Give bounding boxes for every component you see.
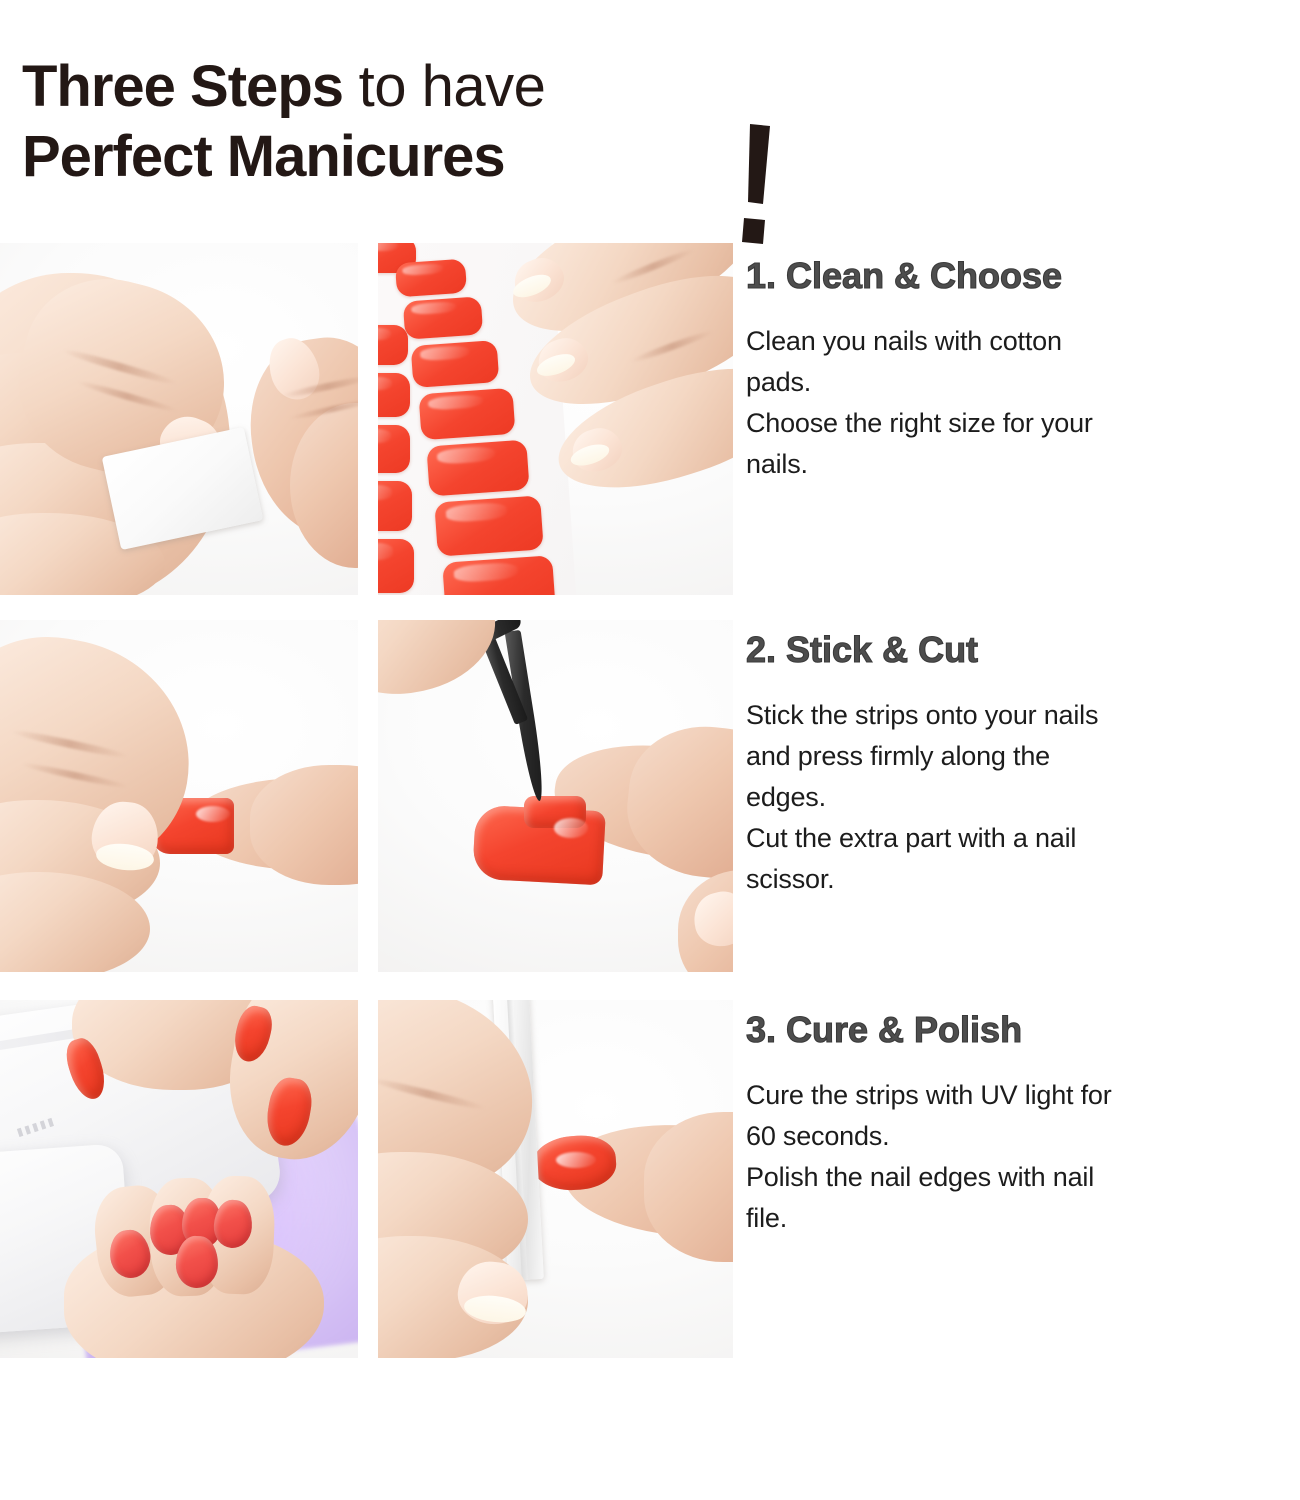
title-line1-light: to have bbox=[343, 54, 545, 119]
step-2: 2. Stick & Cut Stick the strips onto you… bbox=[746, 631, 1296, 900]
step-3-line-2: 60 seconds. bbox=[746, 1116, 1296, 1157]
step-2-line-5: scissor. bbox=[746, 859, 1296, 900]
photo-applying-strip bbox=[0, 620, 358, 972]
step-1-line-4: nails. bbox=[746, 444, 1296, 485]
step-1-line-2: pads. bbox=[746, 362, 1296, 403]
exclamation-mark-icon bbox=[722, 120, 792, 250]
step-1-body: Clean you nails with cotton pads. Choose… bbox=[746, 321, 1296, 485]
photo-hands-holding-cotton-pad bbox=[0, 243, 358, 595]
photo-uv-lamp-curing: ▮▮▮▮▮ bbox=[0, 1000, 358, 1358]
step-3-body: Cure the strips with UV light for 60 sec… bbox=[746, 1075, 1296, 1239]
step-2-heading: 2. Stick & Cut bbox=[746, 631, 1296, 669]
step-3-line-1: Cure the strips with UV light for bbox=[746, 1075, 1296, 1116]
step-3-heading: 3. Cure & Polish bbox=[746, 1011, 1296, 1049]
step-1-line-3: Choose the right size for your bbox=[746, 403, 1296, 444]
photo-nail-strip-sheet bbox=[378, 243, 733, 595]
step-3: 3. Cure & Polish Cure the strips with UV… bbox=[746, 1011, 1296, 1239]
step-3-line-3: Polish the nail edges with nail bbox=[746, 1157, 1296, 1198]
step-2-line-2: and press firmly along the bbox=[746, 736, 1296, 777]
step-1-heading: 1. Clean & Choose bbox=[746, 257, 1296, 295]
step-1: 1. Clean & Choose Clean you nails with c… bbox=[746, 257, 1296, 485]
step-2-line-3: edges. bbox=[746, 777, 1296, 818]
photo-scissors-cutting bbox=[378, 620, 733, 972]
title-line1-strong: Three Steps bbox=[22, 54, 343, 119]
step-2-line-1: Stick the strips onto your nails bbox=[746, 695, 1296, 736]
title-line2-strong: Perfect Manicures bbox=[22, 124, 505, 189]
step-2-line-4: Cut the extra part with a nail bbox=[746, 818, 1296, 859]
step-2-body: Stick the strips onto your nails and pre… bbox=[746, 695, 1296, 900]
step-1-line-1: Clean you nails with cotton bbox=[746, 321, 1296, 362]
photo-nail-file-polishing bbox=[378, 1000, 733, 1358]
page-title: Three Steps to have Perfect Manicures bbox=[22, 58, 822, 218]
photo-grid: ▮▮▮▮▮ bbox=[0, 243, 736, 1358]
step-3-line-4: file. bbox=[746, 1198, 1296, 1239]
